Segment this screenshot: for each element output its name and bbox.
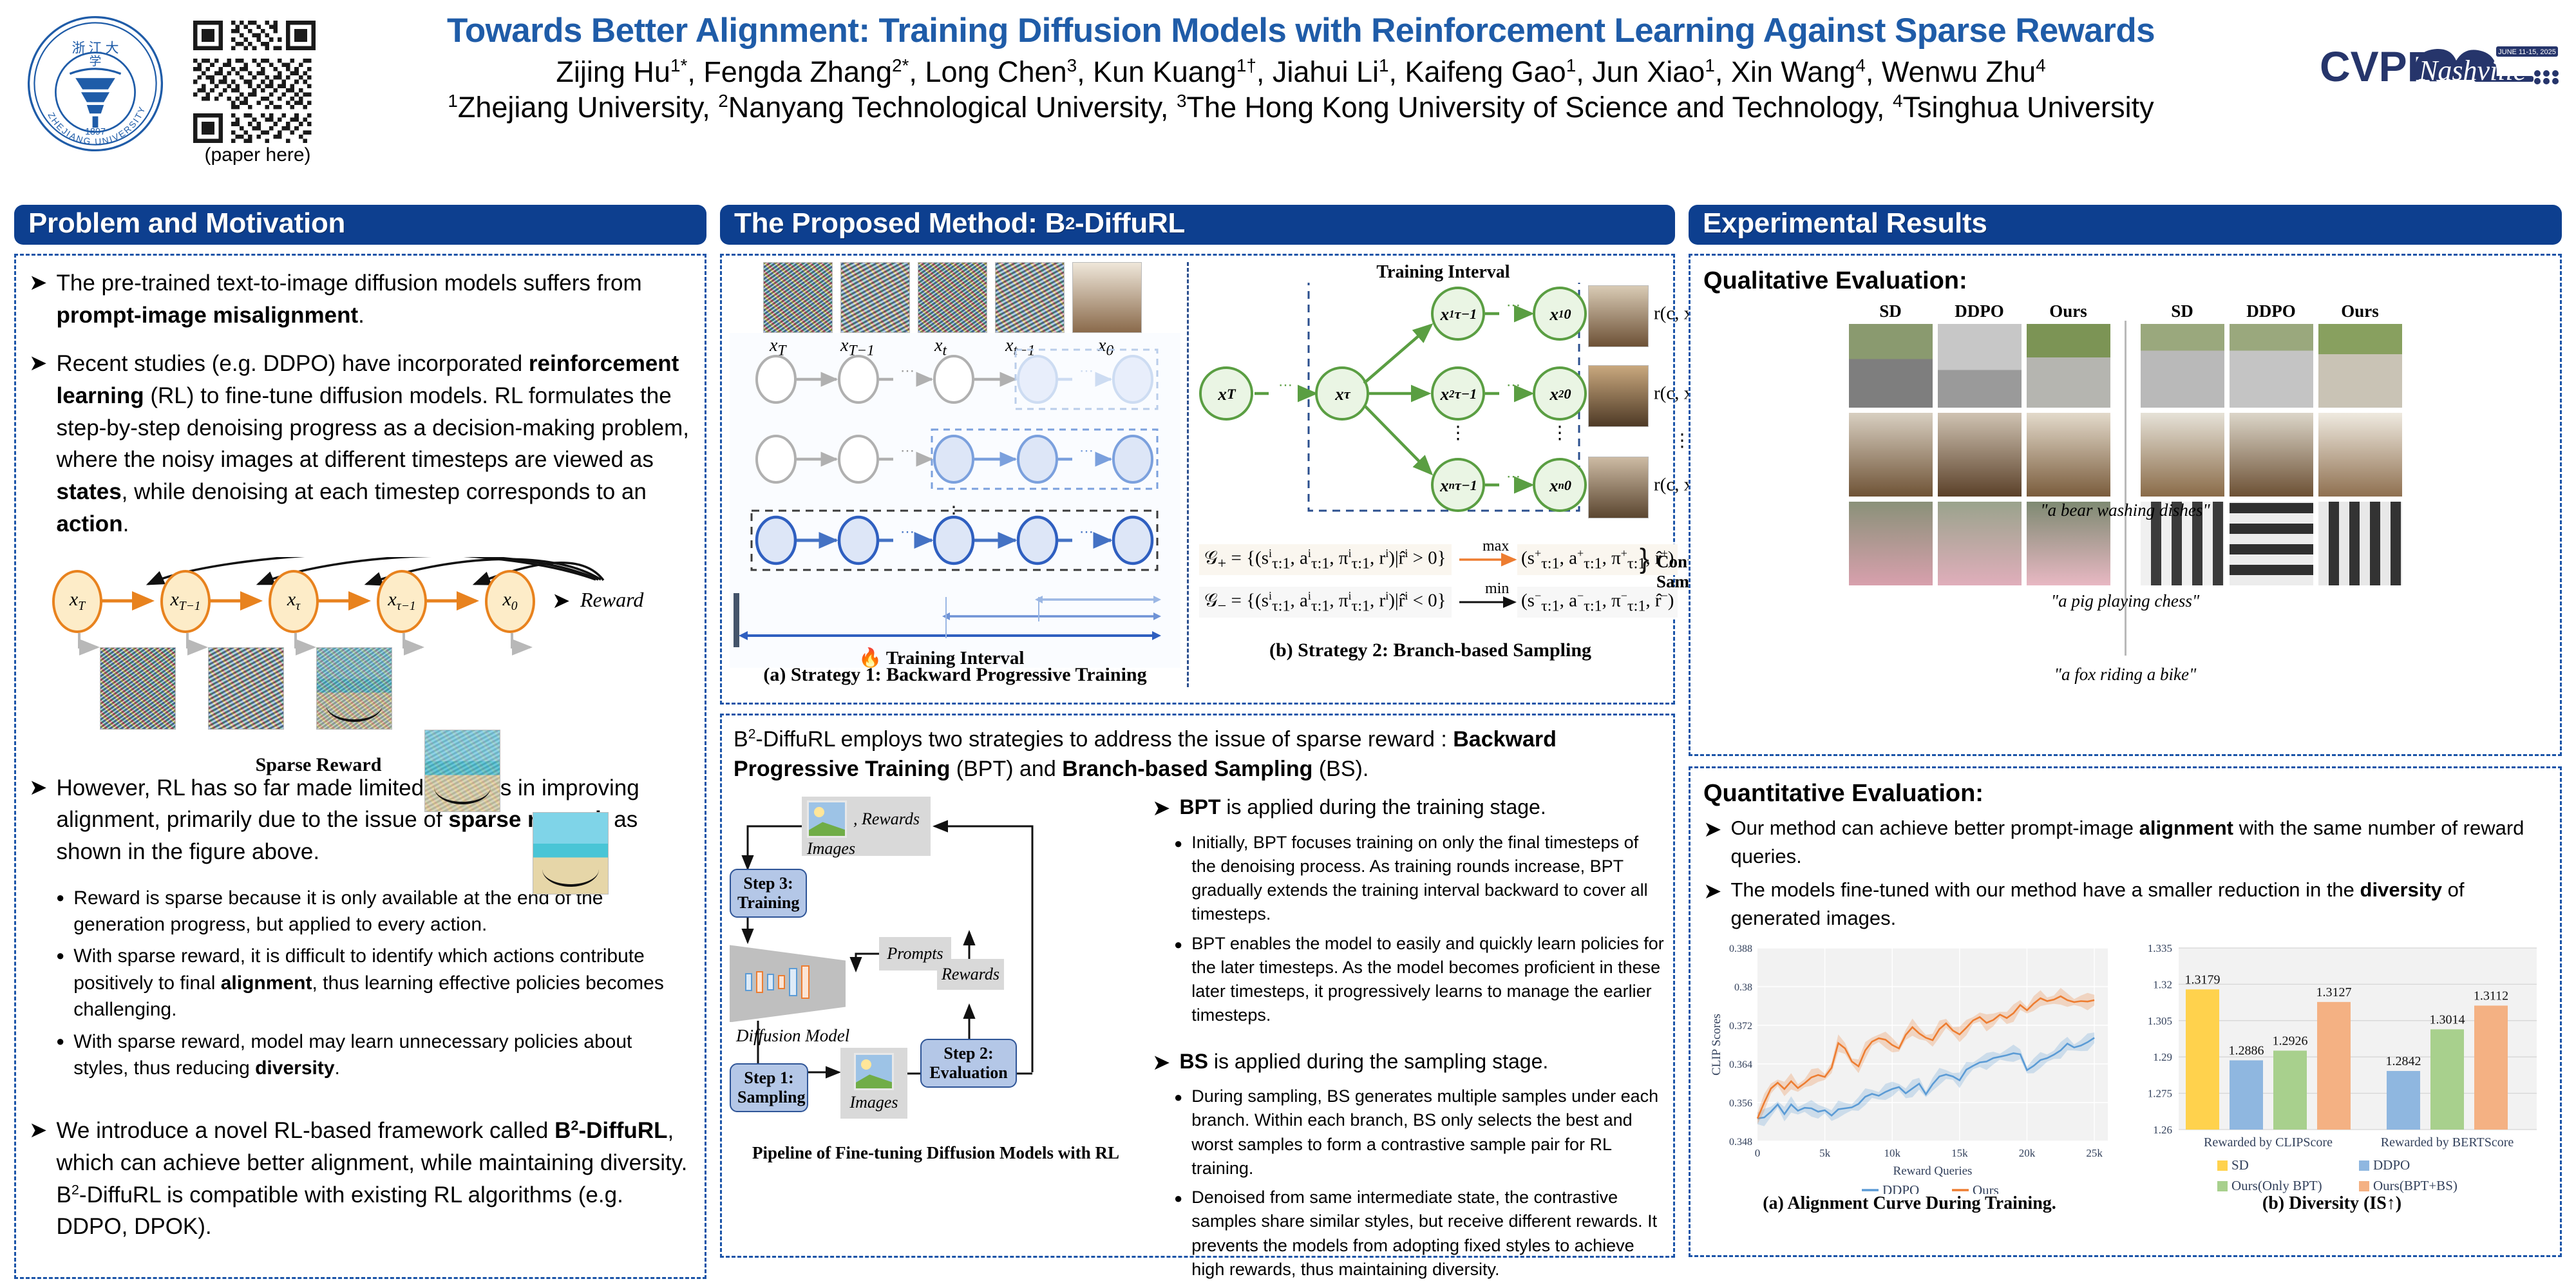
qual-image	[2141, 324, 2224, 408]
branch-image-2	[1588, 365, 1649, 427]
bullet-contribution: ➤ We introduce a novel RL-based framewor…	[29, 1115, 692, 1243]
arrow-bullet-icon: ➤	[1703, 814, 1722, 871]
column-proposed-method: The Proposed Method: B2-DiffuRL xT xT−1 …	[720, 205, 1675, 1258]
bullet-emphasis-3: action	[57, 511, 123, 536]
dot-bullet-icon: ●	[1174, 831, 1182, 927]
image-thumbnail-icon	[807, 800, 847, 838]
bullet-emphasis: prompt-image misalignment	[57, 303, 359, 328]
poster-header: 浙 江 大 学 1897 ZHEJIANG UNIVERSITY	[0, 0, 2576, 193]
images-label: Images	[807, 839, 925, 858]
svg-text:0.364: 0.364	[1729, 1059, 1752, 1070]
contrastive-formula-block: 𝒢+ = {(siτ:1, aiτ:1, πiτ:1, ri)|r̂i > 0}…	[1195, 540, 1665, 637]
svg-text:0.356: 0.356	[1729, 1098, 1752, 1109]
dot-bullet-icon: ●	[56, 1028, 64, 1082]
svg-text:SD: SD	[2231, 1157, 2249, 1173]
bullet-diversity-result: ➤ The models fine-tuned with our method …	[1703, 876, 2547, 933]
svg-text:1.305: 1.305	[2148, 1015, 2172, 1027]
pipeline-diagram: , Rewards Images Step 3: Training	[730, 793, 1142, 1153]
svg-text:学: 学	[90, 55, 102, 68]
branch-image-1	[1588, 285, 1649, 347]
qr-caption: (paper here)	[193, 144, 322, 166]
training-interval-label-a: 🔥 Training Interval	[858, 647, 1024, 669]
subbullet-bpt-1: ● Initially, BPT focuses training on onl…	[1174, 831, 1665, 927]
svg-text:1.2842: 1.2842	[2386, 1054, 2421, 1068]
qual-image	[2318, 324, 2402, 408]
svg-text:0.348: 0.348	[1729, 1137, 1752, 1148]
svg-text:⋮: ⋮	[1551, 422, 1569, 442]
svg-text:⋯: ⋯	[1079, 442, 1094, 459]
qual-image	[2027, 413, 2110, 497]
svg-text:25k: 25k	[2086, 1147, 2103, 1159]
qual-image	[2230, 502, 2313, 585]
paper-qr-code[interactable]	[193, 21, 316, 143]
qual-image	[2027, 324, 2110, 408]
col-label-ours: Ours	[2027, 301, 2110, 321]
author-list: Zijing Hu1*, Fengda Zhang2*, Long Chen3,…	[335, 55, 2267, 90]
node-label-b1: x1τ−1	[1432, 288, 1485, 341]
dot-bullet-icon: ●	[1174, 1186, 1182, 1282]
qual-image	[1849, 324, 1933, 408]
training-interval-label-b: Training Interval	[1221, 262, 1665, 283]
sample-image-xT	[100, 647, 176, 730]
state-node-xtau1: xτ−1	[377, 570, 427, 633]
svg-text:15k: 15k	[1951, 1147, 1968, 1159]
reward-label: Reward	[580, 588, 643, 612]
sample-image-xT1	[208, 647, 284, 730]
subbullet-diversity-loss: ● With sparse reward, model may learn un…	[56, 1028, 692, 1082]
svg-text:1.275: 1.275	[2148, 1088, 2172, 1100]
svg-text:0.372: 0.372	[1729, 1021, 1752, 1032]
formula-g-minus: 𝒢− = {(siτ:1, aiτ:1, πiτ:1, ri)|r̂i < 0}	[1199, 587, 1452, 618]
bullet-text: We introduce a novel RL-based framework …	[57, 1118, 555, 1143]
title-block: Towards Better Alignment: Training Diffu…	[335, 12, 2267, 126]
svg-text:CLIP Scores: CLIP Scores	[1710, 1014, 1723, 1075]
column-experimental-results: Experimental Results Qualitative Evaluat…	[1689, 205, 2562, 1257]
step3-training-box[interactable]: Step 3: Training	[730, 869, 807, 918]
svg-text:⋯: ⋯	[1506, 297, 1520, 313]
qual-image	[1938, 413, 2022, 497]
qual-image	[2230, 324, 2313, 408]
svg-text:⋯: ⋯	[900, 363, 914, 379]
panel-qualitative: Qualitative Evaluation: SD DDPO Ours	[1689, 254, 2562, 756]
chart-alignment-curve: 0.3480.3560.3640.3720.380.38805k10k15k20…	[1703, 936, 2116, 1214]
svg-text:0.38: 0.38	[1734, 982, 1752, 993]
col-label-sd-2: SD	[2141, 301, 2224, 321]
alignment-curve-svg: 0.3480.3560.3640.3720.380.38805k10k15k20…	[1703, 936, 2116, 1194]
svg-text:0: 0	[1755, 1147, 1761, 1159]
method-intro-text: B2-DiffuRL employs two strategies to add…	[734, 724, 1662, 784]
reward-arrow-icon: ➤	[552, 588, 571, 614]
rewards-box: Rewards	[937, 959, 1004, 990]
rewards-inline-label: , Rewards	[853, 810, 920, 829]
svg-text:1.335: 1.335	[2148, 942, 2172, 954]
step2-evaluation-box[interactable]: Step 2: Evaluation	[920, 1039, 1017, 1088]
caption-bear: "a bear washing dishes"	[1703, 500, 2547, 520]
svg-text:1.29: 1.29	[2153, 1051, 2172, 1063]
bpt-label: BPT	[1180, 795, 1221, 819]
result-emphasis-2: diversity	[2360, 878, 2443, 901]
arrow-bullet-icon: ➤	[29, 1115, 48, 1243]
figure-divider	[1187, 262, 1189, 687]
bullet-rl-formulation: ➤ Recent studies (e.g. DDPO) have incorp…	[29, 348, 692, 540]
svg-text:1.3179: 1.3179	[2185, 972, 2221, 987]
svg-text:1.3014: 1.3014	[2430, 1012, 2465, 1027]
bullet-text-2: (RL) to fine-tune diffusion models. RL f…	[57, 383, 689, 472]
paper-title: Towards Better Alignment: Training Diffu…	[335, 12, 2267, 50]
sparse-reward-figure: ⋯ ⋯ xT xT−1 xτ xτ−1	[29, 557, 692, 750]
thumb-xT	[763, 262, 833, 333]
thumb-x0	[1072, 262, 1142, 333]
brace-icon: }	[1640, 543, 1649, 575]
formula-g-plus: 𝒢+ = {(siτ:1, aiτ:1, πiτ:1, ri)|r̂i > 0}	[1199, 544, 1452, 575]
qual-row-bear-left	[1849, 413, 2110, 497]
svg-text:Rewarded by BERTScore: Rewarded by BERTScore	[2381, 1135, 2514, 1150]
bullet-alignment-result: ➤ Our method can achieve better prompt-i…	[1703, 814, 2547, 871]
subbullet-tail: .	[335, 1057, 340, 1079]
svg-text:Ours(BPT+BS): Ours(BPT+BS)	[2373, 1178, 2458, 1193]
svg-text:1.2886: 1.2886	[2229, 1044, 2264, 1058]
qual-image	[2318, 502, 2402, 585]
qual-row-fox-left	[1849, 324, 2110, 408]
logo-year-label: 1897	[85, 127, 106, 137]
diversity-bars-svg: 1.261.2751.291.3051.321.3351.31791.28861…	[2119, 936, 2544, 1194]
output-images-box: Images	[840, 1048, 907, 1119]
svg-text:DDPO: DDPO	[2373, 1157, 2410, 1173]
poster-root: 浙 江 大 学 1897 ZHEJIANG UNIVERSITY	[0, 0, 2576, 1288]
bullet-bpt-head: ➤ BPT is applied during the training sta…	[1152, 793, 1665, 824]
bullet-text: The pre-trained text-to-image diffusion …	[57, 270, 642, 296]
branch-image-n	[1588, 457, 1649, 518]
svg-text:Rewarded by CLIPScore: Rewarded by CLIPScore	[2204, 1135, 2333, 1150]
min-label: min	[1485, 580, 1509, 597]
subbullet-credit-assignment: ● With sparse reward, it is difficult to…	[56, 943, 692, 1023]
qual-image	[1938, 502, 2022, 585]
qual-image	[1849, 502, 1933, 585]
subbullet-emphasis: diversity	[255, 1057, 334, 1079]
qual-image	[2318, 413, 2402, 497]
arrow-bullet-icon: ➤	[29, 267, 48, 331]
qual-row-fox-right	[2141, 324, 2402, 408]
cvpr-dates-label: JUNE 11-15, 2025	[2498, 48, 2556, 56]
affiliation-list: 1Zhejiang University, 2Nanyang Technolog…	[335, 90, 2267, 126]
svg-text:DDPO: DDPO	[1882, 1182, 1919, 1194]
state-node-xtau: xτ	[269, 570, 319, 633]
svg-text:⋯: ⋯	[1079, 524, 1094, 540]
svg-text:浙 江 大: 浙 江 大	[71, 41, 118, 56]
strategy1-rows: ⋯ ⋯	[730, 333, 1180, 668]
image-thumbnail-icon-2	[854, 1053, 894, 1090]
strategy1-thumbnails	[763, 262, 1180, 333]
svg-text:1.3112: 1.3112	[2474, 989, 2508, 1003]
dot-bullet-icon: ●	[1174, 932, 1182, 1028]
sample-image-xtau1	[424, 730, 500, 812]
qual-row-bear-right	[2141, 413, 2402, 497]
bpt-bs-text-block: ➤ BPT is applied during the training sta…	[1148, 793, 1665, 1287]
qual-image	[2141, 413, 2224, 497]
chart-b-caption: (b) Diversity (IS↑)	[2119, 1193, 2544, 1214]
svg-text:10k: 10k	[1884, 1147, 1900, 1159]
bullet-emphasis: B2-DiffuRL	[554, 1118, 667, 1143]
svg-text:1.3127: 1.3127	[2316, 985, 2352, 999]
quantitative-heading: Quantitative Evaluation:	[1703, 780, 2547, 808]
figure-strategy-1: xT xT−1 xt xt−1 x0	[730, 262, 1180, 696]
result-emphasis: alignment	[2139, 817, 2233, 839]
section-header-results: Experimental Results	[1689, 205, 2562, 245]
figure-b-caption: (b) Strategy 2: Branch-based Sampling	[1195, 639, 1665, 661]
bullet-bs-head: ➤ BS is applied during the sampling stag…	[1152, 1047, 1665, 1078]
qr-code-block[interactable]: (paper here)	[193, 21, 322, 166]
subbullet-bs-1: ● During sampling, BS generates multiple…	[1174, 1084, 1665, 1180]
svg-text:Ours: Ours	[1973, 1182, 1999, 1194]
panel-quantitative: Quantitative Evaluation: ➤ Our method ca…	[1689, 766, 2562, 1257]
bs-label: BS	[1180, 1050, 1208, 1073]
svg-text:1.26: 1.26	[2153, 1124, 2172, 1136]
subbullet-bs-2: ● Denoised from same intermediate state,…	[1174, 1186, 1665, 1282]
images-rewards-box: , Rewards Images	[802, 797, 931, 856]
subbullet-emphasis: alignment	[221, 972, 312, 994]
bullet-text-3: , while denoising at each timestep corre…	[122, 479, 647, 504]
cvpr-logo: CVPR Nashville JUNE 11-15, 2025	[2318, 24, 2563, 108]
qualitative-heading: Qualitative Evaluation:	[1703, 267, 2547, 295]
figure-strategy-2: Training Interval ⋯	[1195, 262, 1665, 696]
svg-text:⋮: ⋮	[1449, 422, 1467, 442]
node-label-xtau: xτ	[1316, 368, 1369, 421]
subbullet-bpt-2: ● BPT enables the model to easily and qu…	[1174, 932, 1665, 1028]
arrow-bullet-icon: ➤	[1152, 1047, 1171, 1078]
svg-text:Ours(Only BPT): Ours(Only BPT)	[2231, 1178, 2322, 1193]
state-node-xT1: xT−1	[160, 570, 211, 633]
arrow-bullet-icon: ➤	[1703, 876, 1722, 933]
caption-pig: "a pig playing chess"	[1703, 591, 2547, 611]
svg-text:⋯: ⋯	[1506, 377, 1520, 393]
dot-bullet-icon: ●	[1174, 1084, 1182, 1180]
svg-text:20k: 20k	[2019, 1147, 2036, 1159]
state-node-xT: xT	[52, 570, 102, 633]
thumb-xt1	[995, 262, 1065, 333]
arrow-bullet-icon: ➤	[1152, 793, 1171, 824]
col-label-ddpo: DDPO	[1938, 301, 2022, 321]
svg-text:0.388: 0.388	[1729, 943, 1752, 954]
col-label-sd: SD	[1849, 301, 1933, 321]
subbullet-text: With sparse reward, model may learn unne…	[73, 1031, 632, 1079]
col-label-ddpo-2: DDPO	[2230, 301, 2313, 321]
svg-text:Reward Queries: Reward Queries	[1893, 1164, 1973, 1178]
qual-left-headers: SD DDPO Ours	[1849, 301, 2110, 321]
sparse-reward-caption: Sparse Reward	[0, 754, 692, 776]
node-label-l1: x10	[1534, 288, 1587, 341]
unet-blocks	[745, 965, 810, 999]
svg-text:1.32: 1.32	[2153, 978, 2172, 990]
output-images-label: Images	[840, 1093, 907, 1112]
panel-problem-motivation: ➤ The pre-trained text-to-image diffusio…	[14, 254, 706, 1279]
qual-image	[1849, 413, 1933, 497]
thumb-xT1	[840, 262, 910, 333]
sample-image-xtau	[316, 647, 392, 730]
caption-fox: "a fox riding a bike"	[1703, 665, 2547, 685]
qual-image	[1938, 324, 2022, 408]
svg-text:⋯: ⋯	[1506, 468, 1520, 484]
svg-text:⋯: ⋯	[1079, 363, 1094, 379]
dot-bullet-icon: ●	[56, 885, 64, 938]
column-problem-motivation: Problem and Motivation ➤ The pre-trained…	[14, 205, 706, 1279]
flame-icon: 🔥	[858, 648, 882, 668]
bullet-tail: .	[123, 511, 129, 536]
cvpr-city-label: Nashville	[2418, 55, 2526, 86]
node-label-b2: x2τ−1	[1432, 368, 1485, 421]
dot-bullet-icon: ●	[56, 943, 64, 1023]
svg-text:⋯: ⋯	[900, 524, 914, 540]
thumb-xt	[918, 262, 987, 333]
sample-image-x0	[533, 812, 609, 895]
svg-text:1.2926: 1.2926	[2273, 1034, 2308, 1048]
bullet-emphasis-2: states	[57, 479, 122, 504]
panel-pipeline-description: B2-DiffuRL employs two strategies to add…	[720, 714, 1675, 1258]
strategy1-diagram: xT xT−1 xt xt−1 x0	[730, 333, 1180, 668]
panel-strategies: xT xT−1 xt xt−1 x0	[720, 254, 1675, 705]
strategy2-diagram: ⋯	[1195, 283, 1665, 540]
step1-sampling-box[interactable]: Step 1: Sampling	[730, 1063, 808, 1112]
zhejiang-university-logo: 浙 江 大 学 1897 ZHEJIANG UNIVERSITY	[24, 13, 166, 155]
charts-row: 0.3480.3560.3640.3720.380.38805k10k15k20…	[1703, 936, 2547, 1214]
figure-pipeline: , Rewards Images Step 3: Training	[730, 793, 1142, 1287]
section-header-problem: Problem and Motivation	[14, 205, 706, 245]
bullet-misalignment: ➤ The pre-trained text-to-image diffusio…	[29, 267, 692, 331]
arrow-bullet-icon: ➤	[29, 348, 48, 540]
chart-a-caption: (a) Alignment Curve During Training.	[1703, 1193, 2116, 1214]
svg-text:⋯: ⋯	[900, 442, 914, 459]
section-header-method: The Proposed Method: B2-DiffuRL	[720, 205, 1675, 245]
col-label-ours-2: Ours	[2318, 301, 2402, 321]
bullet-text: Recent studies (e.g. DDPO) have incorpor…	[57, 351, 529, 376]
chart-diversity-bars: 1.261.2751.291.3051.321.3351.31791.28861…	[2119, 936, 2544, 1214]
node-label-xT: xT	[1200, 368, 1253, 421]
qual-right-headers: SD DDPO Ours	[2141, 301, 2402, 321]
intro-strategy2-name: Branch-based Sampling	[1062, 757, 1312, 781]
result-plus: (s+τ:1, a+τ:1, π+τ:1, r̂+)	[1517, 544, 1678, 575]
diffusion-model-label: Diffusion Model	[736, 1026, 849, 1046]
svg-text:⋯: ⋯	[1278, 377, 1293, 393]
bullet-tail: .	[358, 303, 365, 328]
arrow-bullet-icon: ➤	[29, 772, 48, 868]
max-label: max	[1482, 540, 1509, 554]
svg-text:5k: 5k	[1819, 1147, 1831, 1159]
result-minus: (s−τ:1, a−τ:1, π−τ:1, r̂−)	[1517, 587, 1678, 618]
qual-image	[2230, 413, 2313, 497]
state-node-x0: x0	[485, 570, 535, 633]
node-label-l2: x20	[1534, 368, 1587, 421]
node-label-bn: xnτ−1	[1432, 459, 1485, 512]
node-label-ln: xn0	[1534, 459, 1587, 512]
